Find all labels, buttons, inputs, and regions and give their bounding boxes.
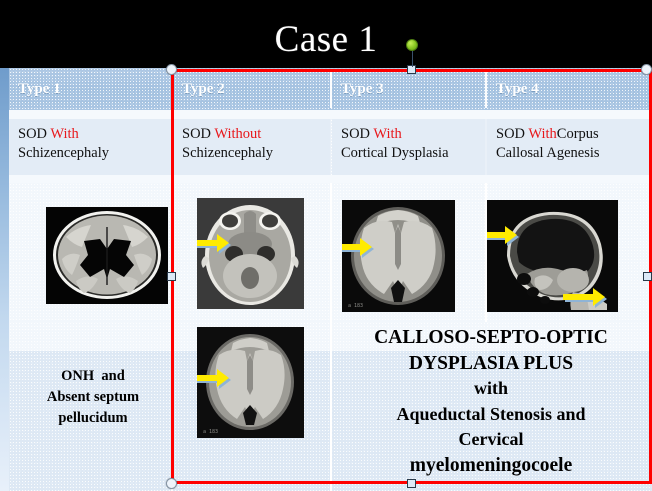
column-header-type-1[interactable]: Type 1 — [9, 68, 171, 110]
type1-note: ONH and Absent septum pellucidum — [17, 366, 169, 429]
resize-handle-top-right[interactable] — [641, 64, 652, 75]
column-header-type-2[interactable]: Type 2 — [173, 68, 330, 110]
dx1-line2: Schizencephaly — [18, 145, 109, 161]
rotation-handle-icon[interactable] — [406, 39, 418, 51]
verdict-line-1: CALLOSO-SEPTO-OPTIC — [374, 327, 608, 348]
dx2-emphasis: Without — [214, 126, 261, 142]
resize-handle-bottom-left[interactable] — [166, 478, 177, 489]
dx4-line2: Callosal Agenesis — [496, 145, 600, 161]
header-divider-3 — [485, 70, 487, 108]
diagnosis-text-type-3: SOD With Cortical Dysplasia — [341, 125, 486, 163]
image-row-divider-1 — [171, 183, 173, 322]
dx3-prefix: SOD — [341, 126, 373, 142]
header-divider-2 — [330, 70, 332, 108]
column-header-type-3[interactable]: Type 3 — [332, 68, 485, 110]
slide-canvas: Case 1 Type 1 Type 2 Type 3 Type 4 SOD W… — [0, 0, 652, 491]
svg-text:a 183: a 183 — [348, 303, 363, 309]
type1-note-line1: ONH and — [61, 368, 125, 384]
diagnosis-text-type-4: SOD WithCorpus Callosal Agenesis — [496, 125, 652, 163]
header-body-gap — [9, 110, 652, 119]
verdict-line-6: myelomeningocoele — [410, 455, 572, 476]
scan-sagittal-mri-corpus-callosum[interactable] — [487, 200, 618, 312]
dx-image-gap — [9, 175, 652, 183]
type1-note-line3: pellucidum — [58, 410, 127, 426]
dx4-emphasis: With — [528, 126, 556, 142]
dx4-prefix: SOD — [496, 126, 528, 142]
verdict-block: CALLOSO-SEPTO-OPTIC DYSPLASIA PLUS with … — [331, 325, 651, 478]
verdict-line-5: Cervical — [459, 429, 524, 449]
verdict-line-3: with — [474, 378, 508, 398]
page-title: Case 1 — [0, 20, 652, 60]
resize-handle-mid-left[interactable] — [167, 272, 176, 281]
diagnosis-text-type-1: SOD With Schizencephaly — [18, 125, 168, 163]
verdict-line-4: Aqueductal Stenosis and — [396, 404, 585, 424]
dx1-prefix: SOD — [18, 126, 50, 142]
dx3-emphasis: With — [373, 126, 401, 142]
dx4-suffix: Corpus — [557, 126, 599, 142]
dx2-line2: Schizencephaly — [182, 145, 273, 161]
type1-note-line2: Absent septum — [47, 389, 139, 405]
dx3-line2: Cortical Dysplasia — [341, 145, 449, 161]
lower-row-divider-1 — [171, 322, 173, 491]
resize-handle-top-left[interactable] — [166, 64, 177, 75]
column-header-type-4[interactable]: Type 4 — [487, 68, 652, 110]
diagnosis-text-type-2: SOD Without Schizencephaly — [182, 125, 330, 163]
verdict-line-2: DYSPLASIA PLUS — [409, 353, 573, 374]
scan-axial-mri-skull-base[interactable] — [197, 198, 304, 309]
svg-text:a 183: a 183 — [203, 429, 218, 435]
resize-handle-bottom-center[interactable] — [407, 479, 416, 488]
header-divider-1 — [171, 70, 173, 108]
left-accent-strip — [0, 68, 9, 491]
scan-axial-ct-hydrocephalus-upper[interactable]: a 183 — [197, 327, 304, 438]
scan-axial-mri-schizencephaly[interactable] — [46, 207, 168, 304]
dx2-prefix: SOD — [182, 126, 214, 142]
image-row-divider-2 — [330, 183, 332, 322]
scan-axial-ct-hydrocephalus[interactable]: a 183 — [342, 200, 455, 312]
dx1-emphasis: With — [50, 126, 78, 142]
resize-handle-mid-right[interactable] — [643, 272, 652, 281]
